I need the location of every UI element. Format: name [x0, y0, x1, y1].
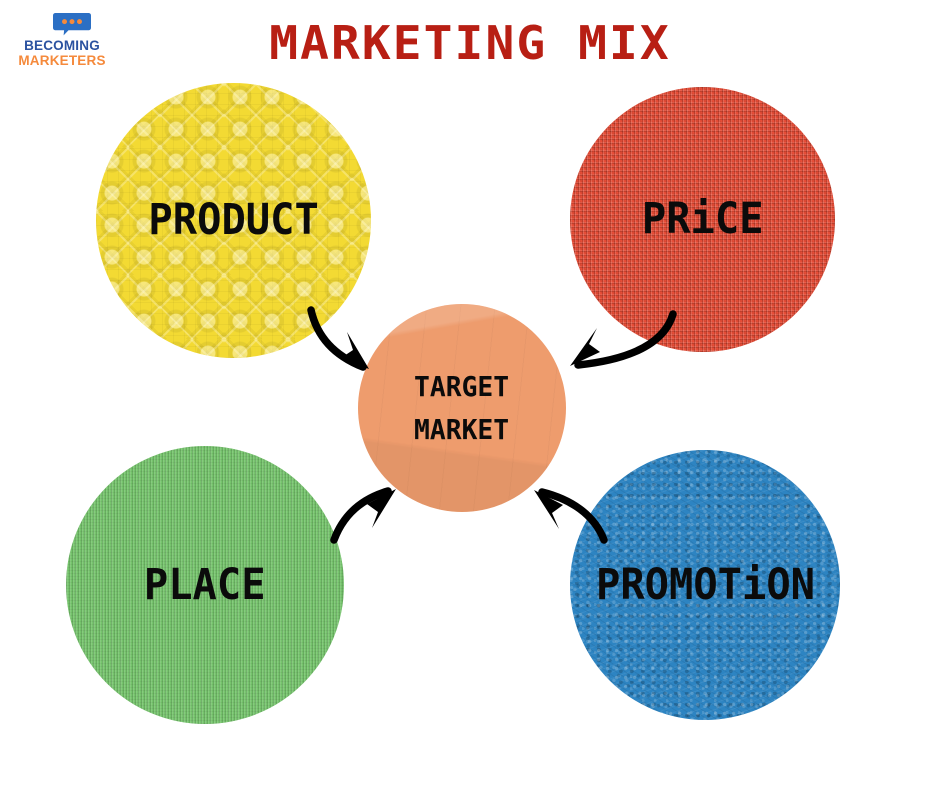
node-label-place: PLACE	[144, 561, 266, 609]
page-title: MARKETING MIX	[0, 16, 940, 70]
node-label-product: PRODUCT	[148, 196, 318, 244]
node-label-promotion: PROMOTiON	[595, 561, 814, 609]
node-target-market[interactable]: TARGET MARKET	[358, 304, 566, 512]
node-promotion[interactable]: PROMOTiON	[570, 450, 840, 720]
node-price[interactable]: PRiCE	[570, 87, 835, 352]
node-label-target-market: TARGET MARKET	[414, 365, 509, 452]
node-label-price: PRiCE	[642, 195, 764, 243]
diagram-canvas: BECOMING MARKETERS MARKETING MIX PRODUCT…	[0, 0, 940, 788]
node-product[interactable]: PRODUCT	[96, 83, 371, 358]
node-place[interactable]: PLACE	[66, 446, 344, 724]
target-market-line-1: TARGET	[414, 370, 509, 403]
target-market-line-2: MARKET	[414, 413, 509, 446]
connector-place-to-target	[334, 489, 396, 540]
